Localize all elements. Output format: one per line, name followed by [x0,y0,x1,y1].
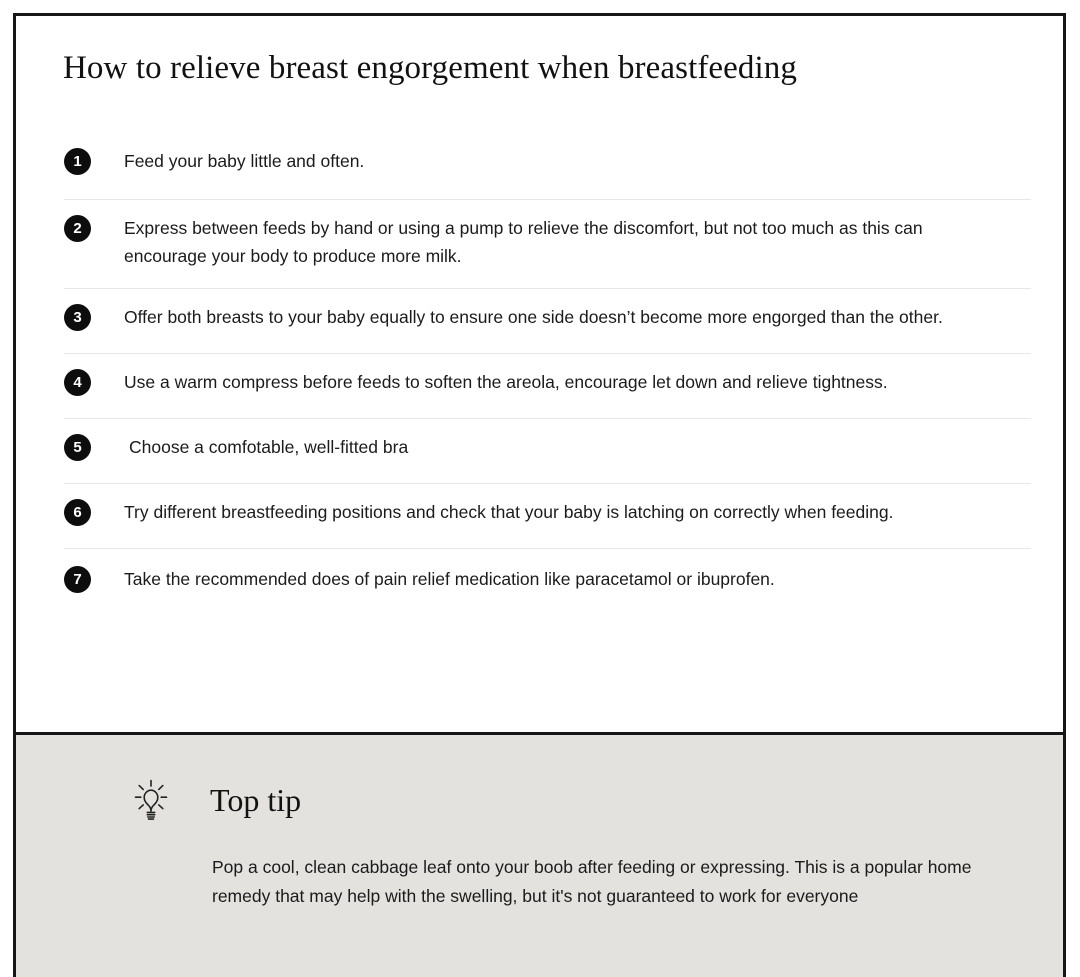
top-tip-header: Top tip [124,774,1023,828]
step-number-badge: 6 [64,499,91,526]
list-item: 2 Express between feeds by hand or using… [16,199,1063,288]
list-item: 5 Choose a comfotable, well-fitted bra [16,418,1063,483]
step-text: Offer both breasts to your baby equally … [124,302,943,332]
step-number-badge: 5 [64,434,91,461]
list-item: 6 Try different breastfeeding positions … [16,483,1063,548]
step-text: Use a warm compress before feeds to soft… [124,367,888,397]
step-text: Choose a comfotable, well-fitted bra [129,432,408,462]
lightbulb-icon [124,774,178,828]
top-tip-body: Pop a cool, clean cabbage leaf onto your… [212,853,1012,910]
steps-panel: How to relieve breast engorgement when b… [16,16,1063,735]
list-item: 3 Offer both breasts to your baby equall… [16,288,1063,353]
infographic-card: How to relieve breast engorgement when b… [13,13,1066,977]
step-number-badge: 7 [64,566,91,593]
top-tip-panel: Top tip Pop a cool, clean cabbage leaf o… [16,735,1063,977]
page-title: How to relieve breast engorgement when b… [16,16,1063,89]
step-number-badge: 2 [64,215,91,242]
top-tip-title: Top tip [210,784,301,819]
step-number-badge: 1 [64,148,91,175]
step-text: Feed your baby little and often. [124,146,364,176]
list-item: 7 Take the recommended does of pain reli… [16,548,1063,615]
steps-list: 1 Feed your baby little and often. 2 Exp… [16,132,1063,615]
step-text: Express between feeds by hand or using a… [124,213,1004,271]
list-item: 4 Use a warm compress before feeds to so… [16,353,1063,418]
step-number-badge: 3 [64,304,91,331]
list-item: 1 Feed your baby little and often. [16,132,1063,199]
step-number-badge: 4 [64,369,91,396]
step-text: Take the recommended does of pain relief… [124,564,775,594]
step-text: Try different breastfeeding positions an… [124,497,893,527]
